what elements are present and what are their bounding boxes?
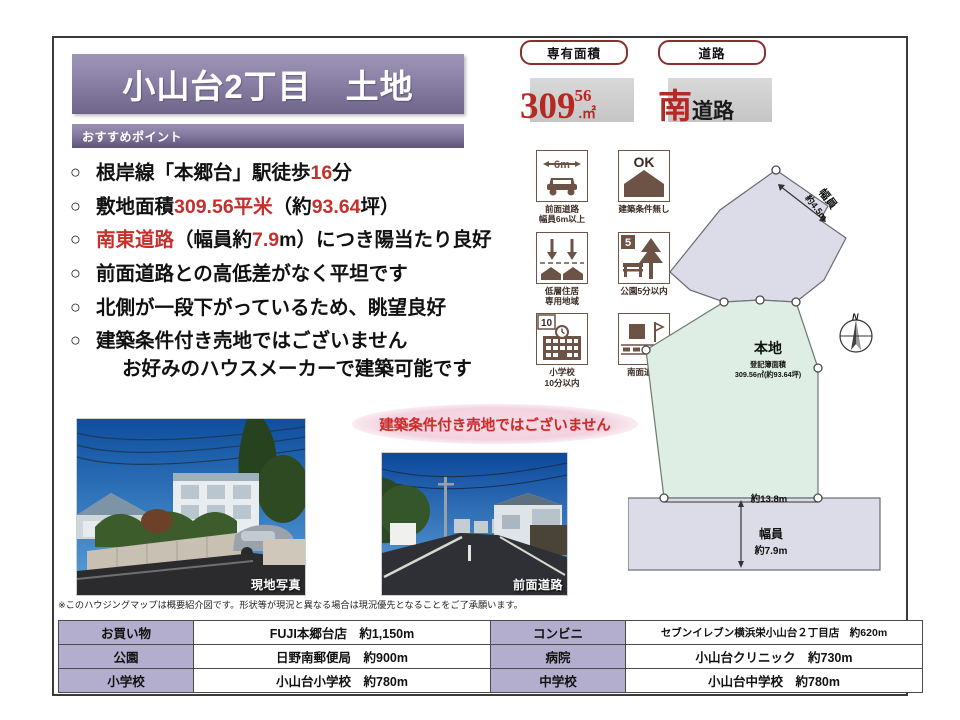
feature-highlight: 16: [311, 162, 333, 184]
front-road-photo-caption: 前面道路: [513, 576, 563, 593]
front-road-width-value: 約7.9m: [736, 542, 806, 557]
flyer-page: 小山台2丁目 土地 おすすめポイント ○根岸線「本郷台」駅徒歩16分○敷地面積3…: [0, 0, 960, 720]
facility-category-right: 中学校: [491, 669, 626, 693]
road-direction: 南: [658, 90, 692, 124]
feature-bullet-mark: ○: [70, 194, 96, 220]
feature-bullet-mark: ○: [70, 227, 96, 253]
feature-plain: 北側が一段下がっているため、眺望良好: [96, 297, 446, 319]
feature-bullet-mark: ○: [70, 295, 96, 321]
road-badge-pill: 道路: [658, 40, 766, 65]
facility-value-left: FUJI本郷台店 約1,150m: [194, 621, 491, 645]
low-rise-residential-icon: [536, 232, 588, 284]
site-photo-caption: 現地写真: [251, 576, 301, 593]
feature-highlight: 93.64: [312, 196, 361, 218]
road-badge: 道路 南 道路: [658, 40, 774, 124]
road-value-box: 南 道路: [658, 72, 774, 124]
page-title-text: 小山台2丁目 土地: [122, 60, 413, 108]
no-building-condition-banner-text: 建築条件付き売地ではございません: [379, 414, 611, 435]
feature-bullet-mark: ○: [70, 261, 96, 287]
table-row: お買い物FUJI本郷台店 約1,150mコンビニセブンイレブン横浜栄小山台２丁目…: [59, 621, 923, 645]
feature-plain: 前面道路との高低差がなく平坦です: [96, 263, 408, 285]
area-value-unit: .㎡: [579, 103, 597, 123]
feature-item-text: 北側が一段下がっているため、眺望良好: [96, 295, 540, 323]
road-width-icon: 6m: [536, 150, 588, 202]
feature-item-text: 南東道路（幅員約7.9m）につき陽当たり良好: [96, 227, 540, 255]
low-rise-residential-icon-caption: 低層住居専用地域: [528, 286, 596, 307]
facility-value-right: セブンイレブン横浜栄小山台２丁目店 約620m: [626, 621, 923, 645]
feature-plain: 分: [332, 162, 352, 184]
area-value-box: 309 56 .㎡: [520, 72, 636, 124]
road-badge-label: 道路: [698, 43, 725, 62]
compass-icon: [840, 320, 872, 352]
facility-value-left: 小山台小学校 約780m: [194, 669, 491, 693]
feature-item: ○南東道路（幅員約7.9m）につき陽当たり良好: [70, 227, 540, 255]
table-row: 公園日野南郵便局 約900m病院小山台クリニック 約730m: [59, 645, 923, 669]
feature-plain: 建築条件付き売地ではございません: [96, 330, 407, 352]
feature-list: ○根岸線「本郷台」駅徒歩16分○敷地面積309.56平米（約93.64坪）○南東…: [70, 160, 540, 390]
feature-item: ○前面道路との高低差がなく平坦です: [70, 261, 540, 289]
feature-item-text: 前面道路との高低差がなく平坦です: [96, 261, 540, 289]
table-row: 小学校小山台小学校 約780m中学校小山台中学校 約780m: [59, 669, 923, 693]
feature-highlight: 南東道路: [96, 229, 174, 251]
facility-value-right: 小山台クリニック 約730m: [626, 645, 923, 669]
feature-plain: m）につき陽当たり良好: [279, 229, 491, 251]
road-value-inner: 南 道路: [658, 72, 774, 124]
icon-cell-road-width: 6m 前面道路幅員6m以上: [528, 150, 596, 225]
facility-category-right: コンビニ: [491, 621, 626, 645]
facility-value-left: 日野南郵便局 約900m: [194, 645, 491, 669]
no-building-condition-banner: 建築条件付き売地ではございません: [352, 404, 638, 444]
plot-label: 本地: [728, 338, 808, 358]
elementary-school-icon-caption: 小学校10分以内: [528, 367, 596, 388]
feature-highlight: 7.9: [252, 229, 279, 251]
feature-plain: （約: [273, 196, 312, 218]
feature-item: ○根岸線「本郷台」駅徒歩16分: [70, 160, 540, 188]
icon-cell-low-rise: 低層住居専用地域: [528, 232, 596, 307]
disclaimer-text: ※このハウジングマップは概要紹介図です。形状等が現況と異なる場合は現況優先となる…: [58, 600, 578, 611]
facilities-table: お買い物FUJI本郷台店 約1,150mコンビニセブンイレブン横浜栄小山台２丁目…: [58, 620, 923, 693]
feature-highlight: 309.56平米: [174, 196, 273, 218]
feature-plain: （幅員約: [174, 229, 252, 251]
recommended-points-label: おすすめポイント: [72, 128, 182, 145]
feature-item-text: 敷地面積309.56平米（約93.64坪）: [96, 194, 540, 222]
svg-text:10: 10: [541, 318, 553, 329]
page-title: 小山台2丁目 土地: [72, 54, 464, 114]
front-road-width-label: 幅員: [736, 525, 806, 542]
main-plot-shape: [646, 300, 818, 498]
feature-item: ○建築条件付き売地ではございませんお好みのハウスメーカーで建築可能です: [70, 328, 540, 383]
road-width-icon-caption: 前面道路幅員6m以上: [528, 204, 596, 225]
frontage-dimension: 約13.8m: [724, 491, 814, 505]
north-label: N: [852, 312, 859, 322]
feature-bullet-mark: ○: [70, 160, 96, 186]
feature-plain: 敷地面積: [96, 196, 174, 218]
area-badge-label: 専有面積: [547, 43, 601, 62]
area-badge: 専有面積 309 56 .㎡: [520, 40, 636, 124]
feature-item-text: 根岸線「本郷台」駅徒歩16分: [96, 160, 540, 188]
road-suffix: 道路: [692, 101, 734, 122]
feature-item: ○北側が一段下がっているため、眺望良好: [70, 295, 540, 323]
facility-category-left: お買い物: [59, 621, 194, 645]
icon-cell-elementary-school: 10: [528, 313, 596, 388]
land-plot-diagram: 本地 登記簿面積309.56㎡(約93.64坪) 約13.8m 幅員 約7.9m…: [628, 150, 904, 590]
facility-category-left: 小学校: [59, 669, 194, 693]
plot-registry-area: 登記簿面積309.56㎡(約93.64坪): [700, 360, 836, 379]
feature-subline: お好みのハウスメーカーで建築可能です: [96, 356, 540, 384]
area-value-integer: 309: [520, 89, 576, 124]
site-photo: 現地写真: [76, 418, 306, 596]
feature-plain: 根岸線「本郷台」駅徒歩: [96, 162, 311, 184]
feature-bullet-mark: ○: [70, 328, 96, 354]
facility-value-right: 小山台中学校 約780m: [626, 669, 923, 693]
front-road-photo: 前面道路: [381, 452, 568, 596]
feature-item-text: 建築条件付き売地ではございませんお好みのハウスメーカーで建築可能です: [96, 328, 540, 383]
area-badge-pill: 専有面積: [520, 40, 628, 65]
feature-plain: 坪）: [361, 196, 400, 218]
svg-text:6m: 6m: [554, 159, 570, 171]
elementary-school-icon: 10: [536, 313, 588, 365]
feature-item: ○敷地面積309.56平米（約93.64坪）: [70, 194, 540, 222]
recommended-points-header: おすすめポイント: [72, 124, 464, 148]
facility-category-left: 公園: [59, 645, 194, 669]
facility-category-right: 病院: [491, 645, 626, 669]
area-value-inner: 309 56 .㎡: [520, 72, 636, 124]
